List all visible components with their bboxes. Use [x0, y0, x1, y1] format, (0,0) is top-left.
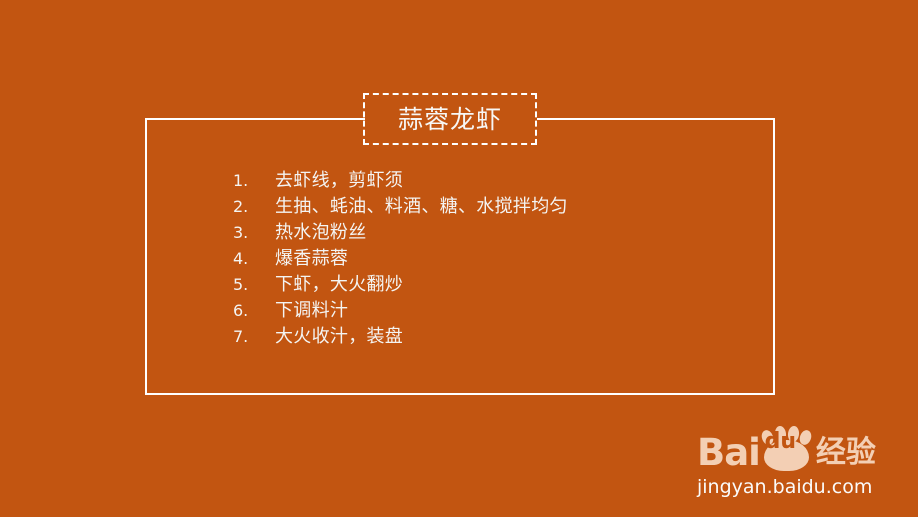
watermark-url: jingyan.baidu.com	[697, 474, 897, 500]
step-text: 下虾，大火翻炒	[275, 272, 403, 298]
panel-border-left	[145, 118, 147, 395]
list-item: 1. 去虾线，剪虾须	[233, 168, 568, 194]
panel-border-right	[773, 118, 775, 395]
paw-print-icon: du	[758, 426, 814, 472]
step-number: 7.	[233, 324, 275, 350]
list-item: 7. 大火收汁，装盘	[233, 324, 568, 350]
step-text: 去虾线，剪虾须	[275, 168, 403, 194]
step-text: 热水泡粉丝	[275, 220, 367, 246]
panel-border-top-left	[145, 118, 365, 120]
list-item: 6. 下调料汁	[233, 298, 568, 324]
title-badge: 蒜蓉龙虾	[363, 93, 537, 145]
step-number: 2.	[233, 194, 275, 220]
step-number: 4.	[233, 246, 275, 272]
list-item: 4. 爆香蒜蓉	[233, 246, 568, 272]
jingyan-wordmark-cn: 经验	[816, 434, 876, 472]
baidu-jingyan-watermark: Bai du 经验 jingyan.baidu.com	[697, 428, 897, 500]
step-text: 大火收汁，装盘	[275, 324, 403, 350]
list-item: 2. 生抽、蚝油、料酒、糖、水搅拌均匀	[233, 194, 568, 220]
baidu-wordmark-latin: Bai	[697, 434, 760, 472]
step-number: 5.	[233, 272, 275, 298]
watermark-logo: Bai du 经验	[697, 428, 897, 472]
panel-border-bottom	[145, 393, 775, 395]
list-item: 5. 下虾，大火翻炒	[233, 272, 568, 298]
recipe-panel: 蒜蓉龙虾 1. 去虾线，剪虾须 2. 生抽、蚝油、料酒、糖、水搅拌均匀 3. 热…	[145, 118, 775, 395]
panel-border-top-right	[537, 118, 775, 120]
list-item: 3. 热水泡粉丝	[233, 220, 568, 246]
recipe-steps-list: 1. 去虾线，剪虾须 2. 生抽、蚝油、料酒、糖、水搅拌均匀 3. 热水泡粉丝 …	[233, 168, 568, 350]
baidu-wordmark-du: du	[758, 426, 803, 457]
step-number: 1.	[233, 168, 275, 194]
step-number: 6.	[233, 298, 275, 324]
step-number: 3.	[233, 220, 275, 246]
slide-canvas: { "slide": { "background_color": "#c2551…	[0, 0, 918, 517]
step-text: 爆香蒜蓉	[275, 246, 348, 272]
step-text: 下调料汁	[275, 298, 348, 324]
page-title: 蒜蓉龙虾	[398, 107, 502, 132]
step-text: 生抽、蚝油、料酒、糖、水搅拌均匀	[275, 194, 568, 220]
